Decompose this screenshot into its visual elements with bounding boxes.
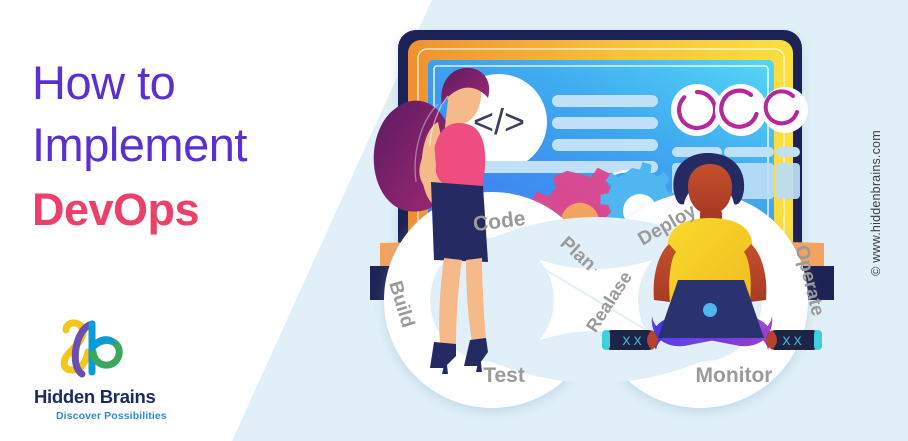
title-line-1: How to — [32, 52, 372, 114]
sneaker: X X — [602, 330, 658, 350]
stage-label-test: Test — [483, 364, 525, 387]
screen-ring-charts — [671, 84, 808, 136]
hidden-brains-h-monogram-icon — [48, 318, 140, 380]
page-title: How to Implement DevOps — [32, 52, 372, 244]
stage-label-monitor: Monitor — [696, 364, 773, 387]
title-line-3-devops: DevOps — [32, 176, 372, 244]
svg-text:X X: X X — [622, 334, 641, 348]
devops-infinity-loop-illustration: </> — [352, 0, 852, 441]
ring-chart — [715, 84, 767, 136]
sneaker: X X — [766, 330, 822, 350]
title-line-2: Implement — [32, 114, 372, 176]
ring-chart — [762, 87, 808, 133]
devops-banner: How to Implement DevOps Hidden Brains Di… — [0, 0, 908, 441]
brand-logo: Hidden Brains Discover Possibilities — [34, 318, 167, 422]
copyright-url: © www.hiddenbrains.com — [869, 83, 883, 323]
logo-tagline: Discover Possibilities — [56, 410, 167, 422]
svg-text:X X: X X — [782, 334, 801, 348]
logo-company-name: Hidden Brains — [34, 386, 167, 408]
